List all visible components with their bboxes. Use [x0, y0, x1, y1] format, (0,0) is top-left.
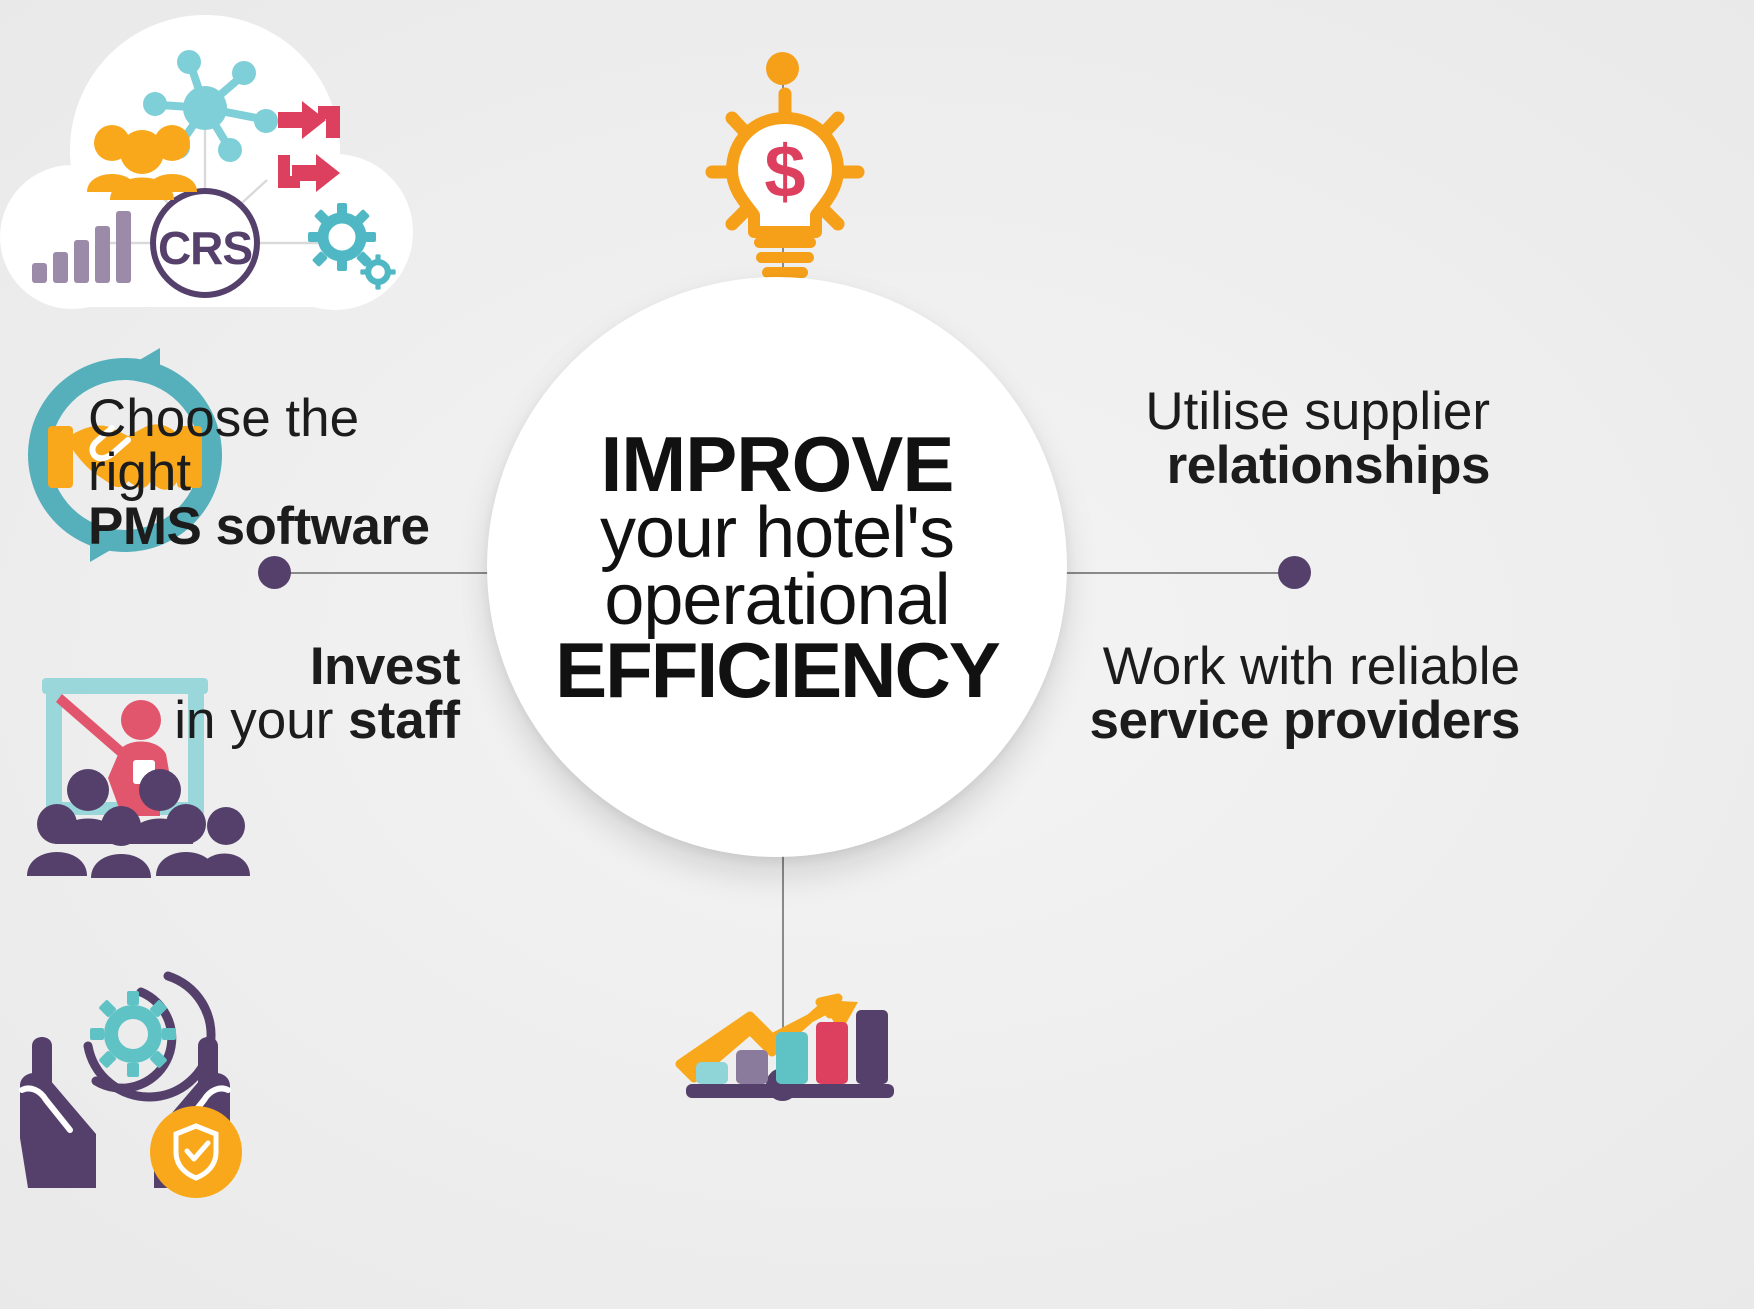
infographic-canvas: $ [0, 0, 1754, 1309]
shield-badge-icon [150, 1106, 242, 1198]
lightbulb-dollar-icon: $ [690, 82, 880, 282]
connector-dot-top [766, 52, 799, 85]
bar-4 [816, 1022, 848, 1084]
label-staff-line2-light: in your [174, 691, 348, 750]
label-service-bold: service providers [1040, 694, 1520, 748]
label-service-light: Work with reliable [1040, 640, 1520, 694]
label-supplier-bold: relationships [1030, 439, 1490, 493]
crs-badge: CRS [153, 191, 257, 295]
label-supplier-relationships: Utilise supplier relationships [1030, 385, 1490, 493]
center-line-2: your hotel's [555, 500, 999, 567]
bar-5 [856, 1010, 888, 1084]
center-circle: IMPROVE your hotel's operational EFFICIE… [487, 277, 1067, 857]
bar-2 [736, 1050, 768, 1084]
label-supplier-light: Utilise supplier [1030, 385, 1490, 439]
label-staff-line1: Invest [60, 640, 460, 694]
svg-text:$: $ [764, 130, 805, 213]
svg-text:CRS: CRS [158, 222, 252, 274]
gear-icon [90, 991, 176, 1077]
connector-dot-left [258, 556, 291, 589]
center-line-4: EFFICIENCY [555, 634, 999, 707]
center-line-1: IMPROVE [555, 428, 999, 501]
label-service-providers: Work with reliable service providers [1040, 640, 1520, 748]
connector-dot-right [1278, 556, 1311, 589]
label-pms-light: Choose the right [88, 392, 468, 500]
label-invest-staff: Invest in your staff [60, 640, 460, 748]
growth-chart-icon [672, 1000, 902, 1095]
center-line-3: operational [555, 567, 999, 634]
chart-baseline [686, 1084, 894, 1098]
bar-3 [776, 1032, 808, 1084]
label-staff-line2-bold: staff [348, 691, 460, 750]
bar-1 [696, 1062, 728, 1084]
label-pms-software: Choose the right PMS software [88, 392, 468, 554]
hands-gear-shield-icon [0, 938, 300, 1238]
crs-cloud-icon: CRS [0, 0, 380, 330]
center-heading: IMPROVE your hotel's operational EFFICIE… [555, 428, 999, 707]
label-pms-bold: PMS software [88, 500, 468, 554]
label-staff-line2: in your staff [60, 694, 460, 748]
